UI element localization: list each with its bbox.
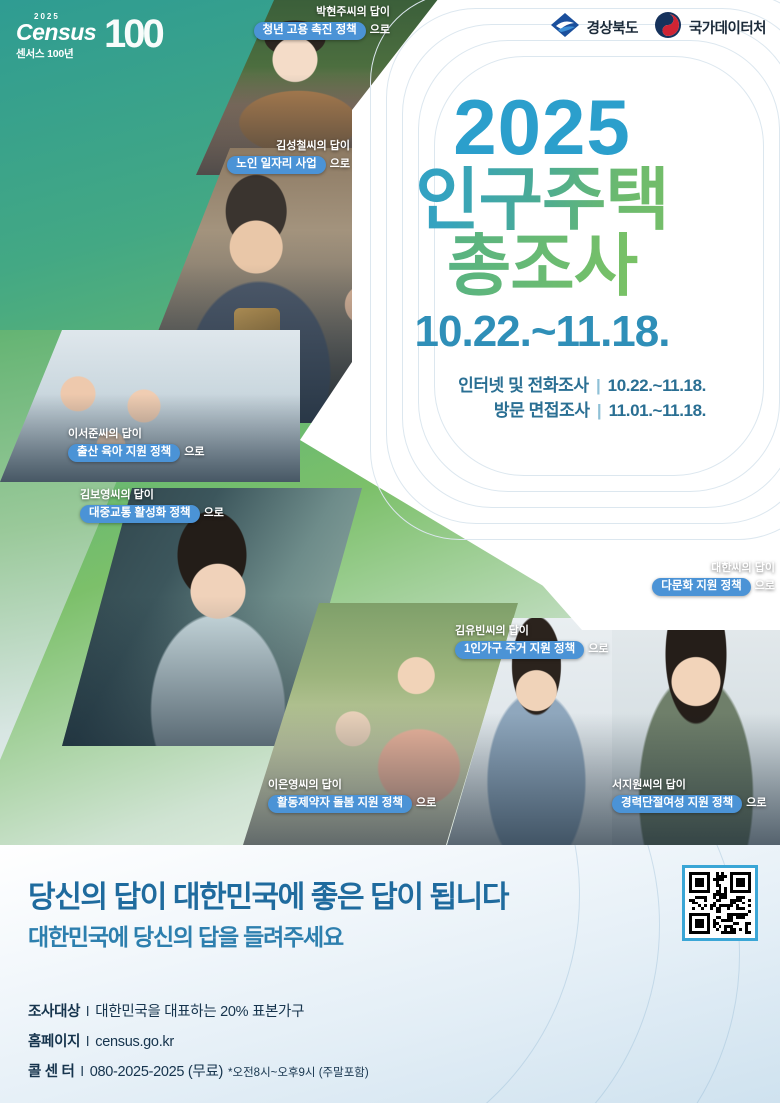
photo-collage: 박현주씨의 답이 청년 고용 촉진 정책 으로 김성철씨의 답이 노인 일자리 … (0, 0, 780, 845)
title-date-range: 10.22.~11.18. (372, 307, 712, 357)
census-logo: 2025 Census 센서스 100년 100 (16, 12, 96, 61)
info-separator: l (80, 1033, 95, 1049)
caption-tail: 으로 (755, 580, 775, 593)
logo-label: 국가데이터처 (689, 17, 766, 38)
caption-person: 대한씨의 답이 (620, 562, 775, 575)
slogan-subline: 대한민국에 당신의 답을 들려주세요 (28, 918, 343, 952)
survey-method-separator: | (593, 376, 603, 395)
title-line-1: 인구주택 (372, 166, 712, 233)
caption-tail: 으로 (370, 24, 390, 37)
taegeuk-emblem-icon (654, 11, 682, 44)
caption-tail: 으로 (746, 797, 766, 810)
info-note: *오전8시~오후9시 (주말포함) (228, 1064, 369, 1080)
survey-method-label: 인터넷 및 전화조사 (458, 376, 589, 395)
caption-daehan: 대한씨의 답이 다문화 지원 정책 으로 (620, 562, 775, 596)
logo-national-data-office: 국가데이터처 (654, 11, 766, 44)
caption-seo-jiwon: 서지원씨의 답이 경력단절여성 지원 정책 으로 (612, 779, 766, 813)
info-label: 홈페이지 (28, 1030, 80, 1051)
title-year: 2025 (372, 92, 712, 164)
logo-gyeongsangbuk-do: 경상북도 (550, 12, 638, 43)
caption-person: 김성철씨의 답이 (170, 140, 350, 153)
caption-policy-pill: 다문화 지원 정책 (652, 578, 750, 596)
gyeongbuk-emblem-icon (550, 12, 580, 43)
caption-policy-pill: 출산 육아 지원 정책 (68, 444, 180, 462)
caption-policy-pill: 노인 일자리 사업 (227, 156, 325, 174)
census-qr-code[interactable] (682, 865, 758, 941)
caption-lee-seojun: 이서준씨의 답이 출산 육아 지원 정책 으로 (68, 428, 204, 462)
info-label: 콜 센 터 (28, 1060, 75, 1081)
slogan-headline: 당신의 답이 대한민국에 좋은 답이 됩니다 (28, 872, 508, 916)
survey-method-separator: | (594, 401, 604, 420)
survey-method-label: 방문 면접조사 (494, 401, 590, 420)
caption-kim-seongchul: 김성철씨의 답이 노인 일자리 사업 으로 (170, 140, 350, 174)
caption-person: 이은영씨의 답이 (268, 779, 436, 792)
info-value: 대한민국을 대표하는 20% 표본가구 (95, 1000, 304, 1021)
info-row-target: 조사대상 l 대한민국을 대표하는 20% 표본가구 (28, 1000, 369, 1021)
caption-tail: 으로 (588, 643, 608, 656)
info-label: 조사대상 (28, 1000, 80, 1021)
survey-method-period: 11.01.~11.18. (609, 401, 706, 420)
caption-person: 김유빈씨의 답이 (455, 625, 608, 638)
census-logo-word: Census (16, 21, 96, 44)
info-separator: l (75, 1063, 90, 1079)
government-logos: 경상북도 국가데이터처 (550, 11, 766, 44)
caption-policy-pill: 1인가구 주거 지원 정책 (455, 641, 584, 659)
info-value-phone: 080-2025-2025 (무료) (90, 1060, 223, 1081)
census-100-icon: 100 (104, 14, 162, 54)
info-row-website[interactable]: 홈페이지 l census.go.kr (28, 1030, 369, 1051)
title-line-2: 총조사 (372, 232, 712, 299)
qr-code-grid (689, 872, 751, 934)
census-logo-korean: 센서스 100년 (16, 46, 96, 61)
poster-footer: 당신의 답이 대한민국에 좋은 답이 됩니다 대한민국에 당신의 답을 들려주세… (0, 845, 780, 1103)
caption-policy-pill: 대중교통 활성화 정책 (80, 505, 200, 523)
caption-kim-yubin: 김유빈씨의 답이 1인가구 주거 지원 정책 으로 (455, 625, 608, 659)
caption-kim-boyeong: 김보영씨의 답이 대중교통 활성화 정책 으로 (80, 489, 224, 523)
caption-person: 박현주씨의 답이 (200, 6, 390, 19)
footer-info-list: 조사대상 l 대한민국을 대표하는 20% 표본가구 홈페이지 l census… (28, 1000, 369, 1090)
survey-method-row: 인터넷 및 전화조사 | 10.22.~11.18. (372, 373, 706, 399)
logo-label: 경상북도 (587, 17, 638, 38)
survey-method-period: 10.22.~11.18. (608, 376, 706, 395)
survey-methods: 인터넷 및 전화조사 | 10.22.~11.18. 방문 면접조사 | 11.… (372, 373, 712, 424)
caption-policy-pill: 청년 고용 촉진 정책 (254, 22, 366, 40)
census-poster: 박현주씨의 답이 청년 고용 촉진 정책 으로 김성철씨의 답이 노인 일자리 … (0, 0, 780, 1103)
caption-person: 이서준씨의 답이 (68, 428, 204, 441)
caption-tail: 으로 (330, 158, 350, 171)
caption-tail: 으로 (416, 797, 436, 810)
caption-tail: 으로 (184, 446, 204, 459)
caption-park-hyunju: 박현주씨의 답이 청년 고용 촉진 정책 으로 (200, 6, 390, 40)
info-row-callcenter: 콜 센 터 l 080-2025-2025 (무료) *오전8시~오후9시 (주… (28, 1060, 369, 1081)
caption-policy-pill: 경력단절여성 지원 정책 (612, 795, 742, 813)
caption-tail: 으로 (204, 507, 224, 520)
caption-lee-eunyoung: 이은영씨의 답이 활동제약자 돌봄 지원 정책 으로 (268, 779, 436, 813)
info-separator: l (80, 1003, 95, 1019)
survey-method-row: 방문 면접조사 | 11.01.~11.18. (372, 398, 706, 424)
caption-person: 서지원씨의 답이 (612, 779, 766, 792)
info-value-website[interactable]: census.go.kr (95, 1034, 174, 1050)
caption-policy-pill: 활동제약자 돌봄 지원 정책 (268, 795, 412, 813)
poster-title-block: 2025 인구주택 총조사 10.22.~11.18. 인터넷 및 전화조사 |… (372, 92, 712, 424)
caption-person: 김보영씨의 답이 (80, 489, 224, 502)
